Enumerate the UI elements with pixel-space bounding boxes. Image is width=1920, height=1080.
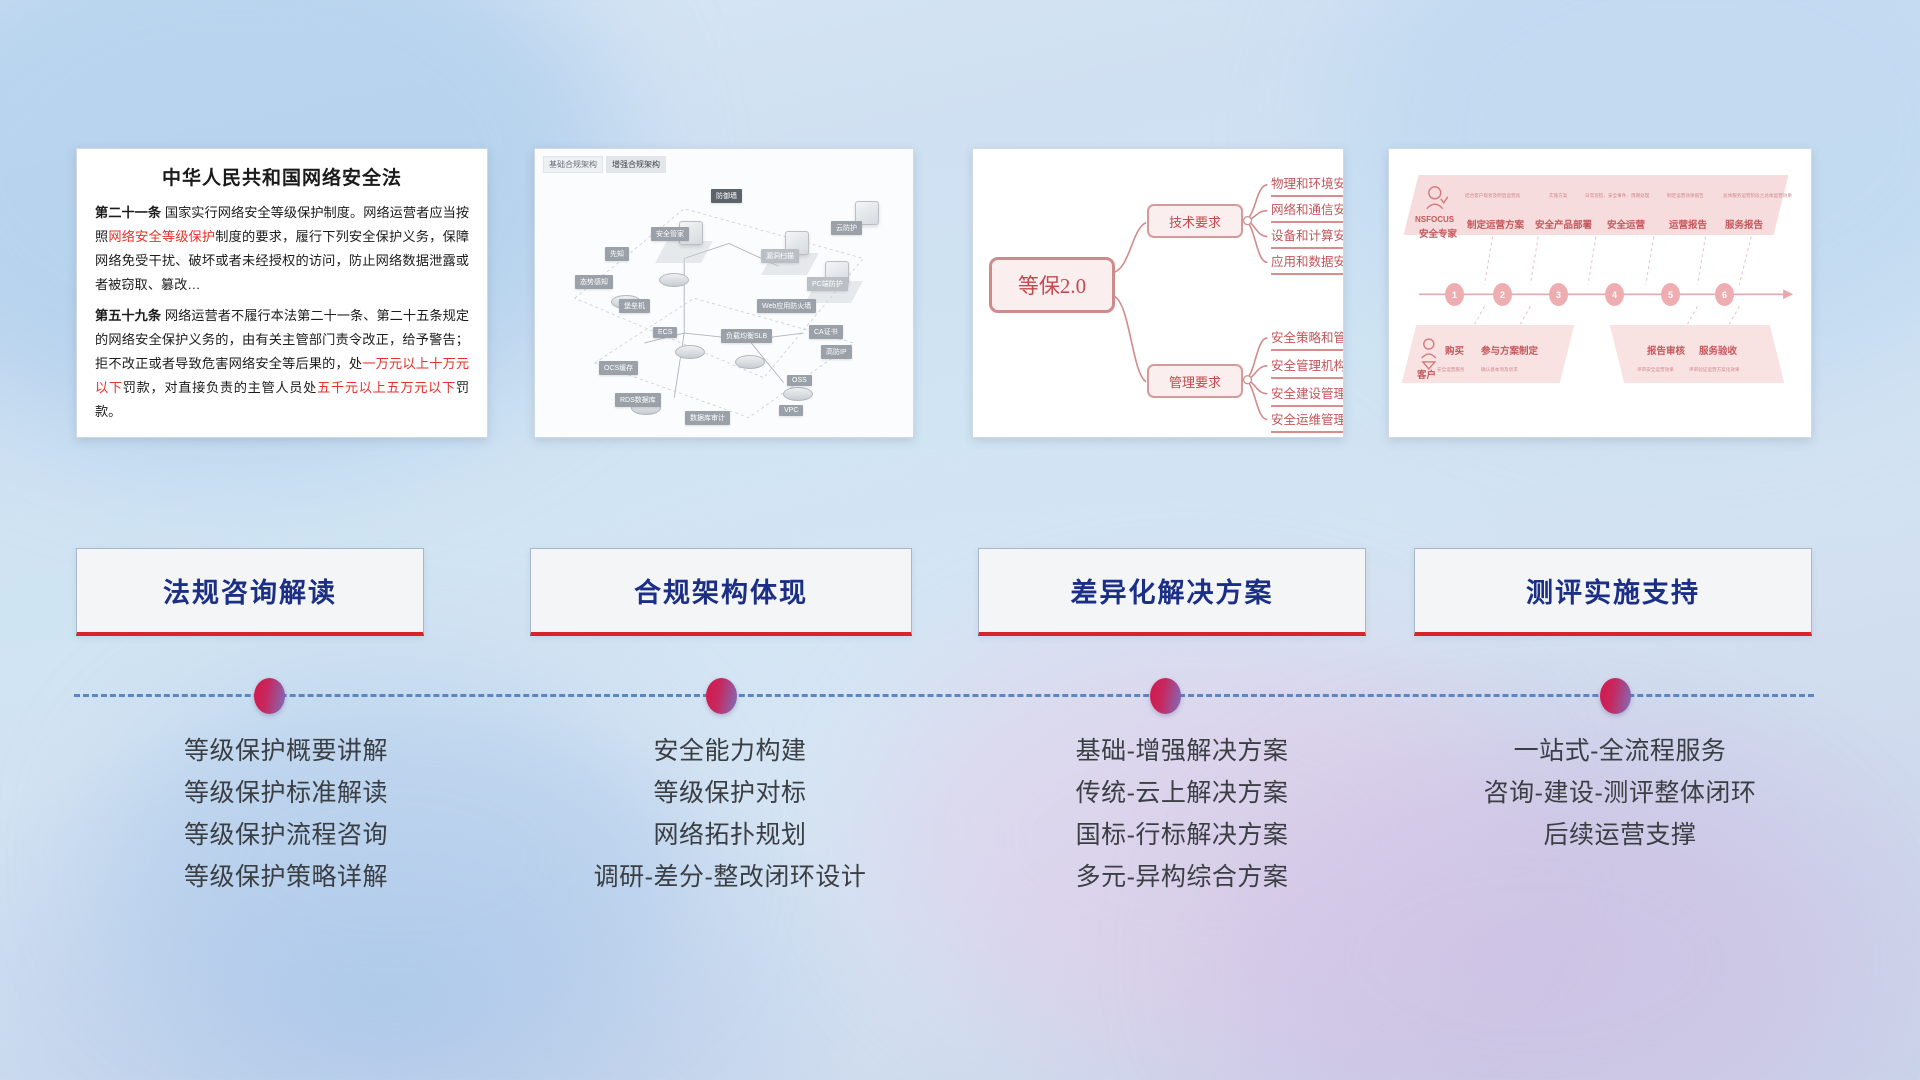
process-bottom-step-1[interactable]: 购买 bbox=[1445, 343, 1464, 357]
list-item: 等级保护流程咨询 bbox=[76, 814, 496, 856]
list-item: 调研-差分-整改闭环设计 bbox=[520, 856, 940, 898]
arch-disc-1 bbox=[659, 273, 689, 287]
law-article-21-label: 第二十一条 bbox=[95, 205, 161, 220]
process-diagram: NSFOCUS 安全专家 客户 结合客户现状及明后运营具 实施方案 日常巡检、安… bbox=[1389, 149, 1811, 437]
arch-disc-5 bbox=[783, 387, 813, 401]
list-item: 等级保护策略详解 bbox=[76, 856, 496, 898]
arch-disc-4 bbox=[735, 355, 765, 369]
list-item: 网络拓扑规划 bbox=[520, 814, 940, 856]
timeline-connector bbox=[0, 660, 1920, 720]
process-top-sub-1: 结合客户现状及明后运营具 bbox=[1465, 193, 1520, 199]
process-top-sub-5: 总体服务运营阶段之总体运营效果 bbox=[1723, 193, 1792, 199]
law-article-21: 第二十一条 国家实行网络安全等级保护制度。网络运营者应当按照网络安全等级保护制度… bbox=[95, 201, 469, 297]
headline-row: 法规咨询解读 合规架构体现 差异化解决方案 测评实施支持 bbox=[0, 548, 1920, 640]
list-item: 多元-异构综合方案 bbox=[972, 856, 1392, 898]
arch-chip-2: 安全管家 bbox=[651, 227, 689, 241]
mindmap-leaf-tech-2[interactable]: 网络和通信安全 bbox=[1271, 199, 1344, 223]
card-compliance-architecture[interactable]: 基础合规架构 增强合规架构 bbox=[534, 148, 914, 438]
arch-chip-14: OCS缓存 bbox=[599, 361, 638, 375]
timeline-dot-4[interactable] bbox=[1600, 678, 1631, 714]
process-top-sub-3: 日常巡检、安全事件、周期处理 bbox=[1585, 193, 1649, 199]
timeline-dot-2[interactable] bbox=[706, 678, 737, 714]
arch-chip-18: 数据库审计 bbox=[685, 411, 730, 425]
list-item: 基础-增强解决方案 bbox=[972, 730, 1392, 772]
process-bottom-sub-4: 评审验证运营方案化效果 bbox=[1689, 367, 1740, 373]
mindmap-leaf-mgmt-2[interactable]: 安全管理机构和人员 bbox=[1271, 355, 1344, 379]
headline-box-assessment-support[interactable]: 测评实施支持 bbox=[1414, 548, 1812, 636]
headline-label-1: 法规咨询解读 bbox=[163, 571, 337, 610]
law-document: 中华人民共和国网络安全法 第二十一条 国家实行网络安全等级保护制度。网络运营者应… bbox=[77, 149, 487, 438]
mindmap-leaf-tech-1[interactable]: 物理和环境安全 bbox=[1271, 173, 1344, 197]
detail-column-2: 安全能力构建 等级保护对标 网络拓扑规划 调研-差分-整改闭环设计 bbox=[520, 730, 940, 898]
headline-box-regulation-consulting[interactable]: 法规咨询解读 bbox=[76, 548, 424, 636]
arch-chip-11: 负载均衡SLB bbox=[721, 329, 772, 343]
process-top-step-1[interactable]: 制定运营方案 bbox=[1467, 217, 1524, 231]
card-mindmap-dengbao[interactable]: 等保2.0 技术要求 管理要求 物理和环境安全 网络和通信安全 设备和计算安全 … bbox=[972, 148, 1344, 438]
law-article-59-label: 第五十九条 bbox=[95, 308, 161, 323]
timeline-dot-1[interactable] bbox=[254, 678, 285, 714]
law-article-21-highlight: 网络安全等级保护 bbox=[108, 229, 215, 244]
process-top-sub-4: 制定运营效果报告 bbox=[1667, 193, 1704, 199]
process-step-number-6: 6 bbox=[1715, 283, 1734, 306]
mindmap-root-node[interactable]: 等保2.0 bbox=[989, 257, 1115, 313]
detail-column-4: 一站式-全流程服务 咨询-建设-测评整体闭环 后续运营支撑 bbox=[1410, 730, 1830, 856]
detail-columns: 等级保护概要讲解 等级保护标准解读 等级保护流程咨询 等级保护策略详解 安全能力… bbox=[0, 730, 1920, 960]
process-top-step-5[interactable]: 服务报告 bbox=[1725, 217, 1763, 231]
arch-chip-10: ECS bbox=[653, 327, 677, 338]
process-bottom-step-4[interactable]: 服务验收 bbox=[1699, 343, 1737, 357]
arch-chip-17: VPC bbox=[779, 405, 803, 416]
process-step-number-5: 5 bbox=[1661, 283, 1680, 306]
architecture-diagram: 基础合规架构 增强合规架构 bbox=[535, 149, 913, 437]
headline-box-differentiated-solution[interactable]: 差异化解决方案 bbox=[978, 548, 1366, 636]
arch-disc-3 bbox=[675, 345, 705, 359]
headline-label-2: 合规架构体现 bbox=[634, 571, 808, 610]
process-top-step-4[interactable]: 运营报告 bbox=[1669, 217, 1707, 231]
arch-chip-1: 防御墙 bbox=[711, 189, 742, 203]
process-step-number-1: 1 bbox=[1445, 283, 1464, 306]
card-service-process[interactable]: NSFOCUS 安全专家 客户 结合客户现状及明后运营具 实施方案 日常巡检、安… bbox=[1388, 148, 1812, 438]
process-actor-provider-line2: 安全专家 bbox=[1419, 226, 1457, 240]
list-item: 等级保护对标 bbox=[520, 772, 940, 814]
headline-box-compliance-architecture[interactable]: 合规架构体现 bbox=[530, 548, 912, 636]
timeline-dashed-line bbox=[74, 694, 1814, 697]
process-step-number-2: 2 bbox=[1493, 283, 1512, 306]
mindmap-branch-management[interactable]: 管理要求 bbox=[1147, 364, 1243, 398]
process-top-step-2[interactable]: 安全产品部署 bbox=[1535, 217, 1592, 231]
process-actor-provider-line1: NSFOCUS bbox=[1415, 215, 1454, 224]
arch-chip-16: OSS bbox=[787, 375, 812, 386]
arch-chip-6: 漏洞扫描 bbox=[761, 249, 799, 263]
headline-label-3: 差异化解决方案 bbox=[1071, 571, 1274, 610]
headline-label-4: 测评实施支持 bbox=[1526, 571, 1700, 610]
process-bottom-sub-1: 安全运营服务 bbox=[1437, 367, 1465, 373]
list-item: 等级保护标准解读 bbox=[76, 772, 496, 814]
arch-chip-4: 态势感知 bbox=[575, 275, 613, 289]
process-step-number-4: 4 bbox=[1605, 283, 1624, 306]
arch-chip-3: 先知 bbox=[605, 247, 629, 261]
arch-chip-8: 云防护 bbox=[831, 221, 862, 235]
detail-column-3: 基础-增强解决方案 传统-云上解决方案 国标-行标解决方案 多元-异构综合方案 bbox=[972, 730, 1392, 898]
process-top-sub-2: 实施方案 bbox=[1549, 193, 1567, 199]
list-item: 后续运营支撑 bbox=[1410, 814, 1830, 856]
mindmap-leaf-mgmt-3[interactable]: 安全建设管理 bbox=[1271, 383, 1344, 407]
process-bottom-step-2[interactable]: 参与方案制定 bbox=[1481, 343, 1538, 357]
list-item: 安全能力构建 bbox=[520, 730, 940, 772]
law-title: 中华人民共和国网络安全法 bbox=[95, 163, 469, 190]
mindmap-branch-technical[interactable]: 技术要求 bbox=[1147, 204, 1243, 238]
list-item: 咨询-建设-测评整体闭环 bbox=[1410, 772, 1830, 814]
process-step-number-3: 3 bbox=[1549, 283, 1568, 306]
preview-cards-row: 中华人民共和国网络安全法 第二十一条 国家实行网络安全等级保护制度。网络运营者应… bbox=[0, 148, 1920, 448]
arch-chip-7: PC端防护 bbox=[807, 277, 848, 291]
law-article-59-text-b: 罚款，对直接负责的主管人员处 bbox=[123, 380, 317, 395]
timeline-dot-3[interactable] bbox=[1150, 678, 1181, 714]
process-bottom-sub-2: 确认基本项及诉求 bbox=[1481, 367, 1518, 373]
list-item: 国标-行标解决方案 bbox=[972, 814, 1392, 856]
process-bottom-sub-3: 评审安全运营效果 bbox=[1637, 367, 1674, 373]
process-actor-customer: 客户 bbox=[1417, 367, 1436, 381]
card-cybersecurity-law[interactable]: 中华人民共和国网络安全法 第二十一条 国家实行网络安全等级保护制度。网络运营者应… bbox=[76, 148, 488, 438]
list-item: 一站式-全流程服务 bbox=[1410, 730, 1830, 772]
mindmap-leaf-tech-4[interactable]: 应用和数据安全 bbox=[1271, 251, 1344, 275]
arch-chip-12: CA证书 bbox=[809, 325, 843, 339]
law-article-59-highlight-b: 五千元以上五万元以下 bbox=[317, 380, 456, 395]
mindmap-leaf-tech-3[interactable]: 设备和计算安全 bbox=[1271, 225, 1344, 249]
mindmap: 等保2.0 技术要求 管理要求 物理和环境安全 网络和通信安全 设备和计算安全 … bbox=[973, 149, 1343, 437]
arch-chip-15: RDS数据库 bbox=[615, 393, 661, 407]
process-top-step-3[interactable]: 安全运营 bbox=[1607, 217, 1645, 231]
arch-chip-5: 堡垒机 bbox=[619, 299, 650, 313]
detail-column-1: 等级保护概要讲解 等级保护标准解读 等级保护流程咨询 等级保护策略详解 bbox=[76, 730, 496, 898]
slide-canvas: 中华人民共和国网络安全法 第二十一条 国家实行网络安全等级保护制度。网络运营者应… bbox=[0, 0, 1920, 1080]
law-article-59: 第五十九条 网络运营者不履行本法第二十一条、第二十五条规定的网络安全保护义务的，… bbox=[95, 304, 469, 424]
arch-chip-13: 高防IP bbox=[821, 345, 852, 359]
process-bottom-step-3[interactable]: 报告审核 bbox=[1647, 343, 1685, 357]
mindmap-leaf-mgmt-1[interactable]: 安全策略和管理制度 bbox=[1271, 327, 1344, 351]
list-item: 传统-云上解决方案 bbox=[972, 772, 1392, 814]
arch-chip-9: Web应用防火墙 bbox=[757, 299, 816, 313]
mindmap-leaf-mgmt-4[interactable]: 安全运维管理 bbox=[1271, 409, 1344, 433]
list-item: 等级保护概要讲解 bbox=[76, 730, 496, 772]
